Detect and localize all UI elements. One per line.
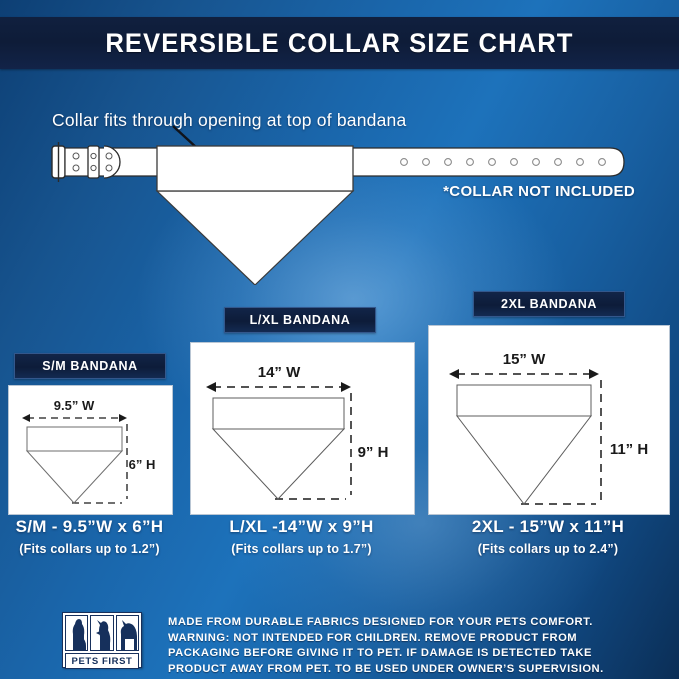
- page-header: REVERSIBLE COLLAR SIZE CHART: [0, 17, 679, 69]
- size-caption-2xl: 2XL - 15”W x 11”H (Fits collars up to 2.…: [428, 517, 668, 556]
- size-caption-sub-lxl: (Fits collars up to 1.7”): [190, 542, 413, 556]
- bandana-diagram-sm: 9.5” W 6” H: [9, 386, 170, 512]
- height-label-2xl: 11” H: [610, 441, 648, 458]
- size-badge-sm: S/M BANDANA: [14, 353, 166, 379]
- height-label-lxl: 9” H: [358, 444, 389, 461]
- size-caption-lxl: L/XL -14”W x 9”H (Fits collars up to 1.7…: [190, 517, 413, 556]
- legal-line-3: PACKAGING BEFORE GIVING IT TO PET. IF DA…: [168, 646, 604, 662]
- collar-buckle-icon: [52, 142, 120, 182]
- pets-first-logo: PETS FIRST: [62, 612, 142, 668]
- size-caption-main-sm: S/M - 9.5”W x 6”H: [8, 517, 171, 537]
- size-card-sm: 9.5” W 6” H: [8, 385, 173, 515]
- collar-bandana-diagram: [0, 70, 679, 285]
- legal-text: MADE FROM DURABLE FABRICS DESIGNED FOR Y…: [168, 615, 604, 677]
- size-chart-page: REVERSIBLE COLLAR SIZE CHART Collar fits…: [0, 0, 679, 679]
- logo-dog-panels: [65, 615, 139, 651]
- legal-line-1: MADE FROM DURABLE FABRICS DESIGNED FOR Y…: [168, 615, 604, 631]
- size-badge-lxl: L/XL BANDANA: [224, 307, 376, 333]
- page-title: REVERSIBLE COLLAR SIZE CHART: [105, 28, 573, 59]
- bandana-diagram-2xl: 15” W 11” H: [429, 326, 667, 512]
- height-label-sm: 6” H: [129, 457, 156, 472]
- bandana-diagram-lxl: 14” W 9” H: [191, 343, 412, 512]
- width-label-sm: 9.5” W: [54, 398, 95, 413]
- page-footer: PETS FIRST MADE FROM DURABLE FABRICS DES…: [0, 597, 679, 679]
- size-card-lxl: 14” W 9” H: [190, 342, 415, 515]
- size-card-2xl: 15” W 11” H: [428, 325, 670, 515]
- size-caption-main-lxl: L/XL -14”W x 9”H: [190, 517, 413, 537]
- dog-begging-icon: [90, 615, 113, 651]
- legal-line-4: PRODUCT AWAY FROM PET. TO BE USED UNDER …: [168, 662, 604, 678]
- size-cards-row: S/M BANDANA 9.5” W 6” H S/M - 9.5”W x 6”…: [0, 285, 679, 570]
- size-caption-sm: S/M - 9.5”W x 6”H (Fits collars up to 1.…: [8, 517, 171, 556]
- size-badge-2xl: 2XL BANDANA: [473, 291, 625, 317]
- size-caption-sub-2xl: (Fits collars up to 2.4”): [428, 542, 668, 556]
- logo-wordmark: PETS FIRST: [65, 653, 139, 669]
- collar-illustration: Collar fits through opening at top of ba…: [0, 70, 679, 285]
- legal-line-2: WARNING: NOT INTENDED FOR CHILDREN. REMO…: [168, 631, 604, 647]
- width-label-2xl: 15” W: [503, 351, 546, 368]
- dog-sitting-icon: [65, 615, 88, 651]
- bandana-triangle: [157, 191, 353, 285]
- dog-standing-icon: [116, 615, 139, 651]
- width-label-lxl: 14” W: [258, 364, 301, 381]
- bandana-collar-sleeve: [157, 146, 353, 191]
- size-caption-sub-sm: (Fits collars up to 1.2”): [8, 542, 171, 556]
- size-caption-main-2xl: 2XL - 15”W x 11”H: [428, 517, 668, 537]
